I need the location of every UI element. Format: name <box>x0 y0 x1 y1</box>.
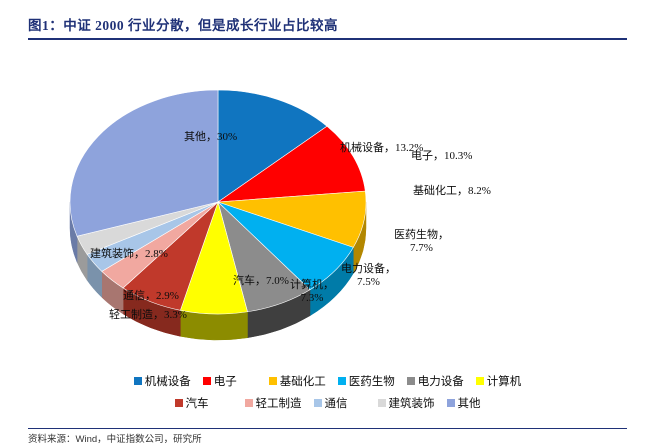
legend-label-机械设备: 机械设备 <box>145 373 191 389</box>
pie-chart: 机械设备，13.2% 电子，10.3% 基础化工，8.2% 医药生物， 7.7%… <box>28 44 627 425</box>
legend-row-1: 机械设备 电子 基础化工 医药生物 电力设备 计算机 <box>28 370 627 392</box>
pie-side-计算机 <box>180 310 247 340</box>
legend-item-机械设备[interactable]: 机械设备 <box>134 373 191 389</box>
legend-swatch-icon-基础化工 <box>269 377 277 385</box>
slice-label-其他: 其他，30% <box>184 131 237 144</box>
legend-swatch-icon-医药生物 <box>338 377 346 385</box>
legend-swatch-icon-计算机 <box>476 377 484 385</box>
legend-item-通信[interactable]: 通信 <box>314 395 348 411</box>
legend-swatch-icon-电力设备 <box>407 377 415 385</box>
legend-label-医药生物: 医药生物 <box>349 373 395 389</box>
legend-swatch-icon-其他 <box>447 399 455 407</box>
legend-swatch-icon-通信 <box>314 399 322 407</box>
legend-item-建筑装饰[interactable]: 建筑装饰 <box>378 395 435 411</box>
legend-item-轻工制造[interactable]: 轻工制造 <box>245 395 302 411</box>
legend-swatch-icon-电子 <box>203 377 211 385</box>
legend-label-轻工制造: 轻工制造 <box>256 395 302 411</box>
legend-swatch-icon-汽车 <box>175 399 183 407</box>
legend-label-建筑装饰: 建筑装饰 <box>389 395 435 411</box>
slice-label-汽车: 汽车，7.0% <box>233 275 289 288</box>
slice-label-医药生物-line2: 7.7% <box>410 242 433 254</box>
source-note: 资料来源：Wind，中证指数公司，研究所 <box>28 431 627 445</box>
legend-label-计算机: 计算机 <box>487 373 522 389</box>
legend-item-电力设备[interactable]: 电力设备 <box>407 373 464 389</box>
pie-chart-svg <box>28 44 627 374</box>
title-divider <box>28 38 627 40</box>
legend-label-通信: 通信 <box>325 395 348 411</box>
slice-label-电力设备-line2: 7.5% <box>357 276 380 288</box>
slice-label-计算机-line2: 7.3% <box>301 292 324 304</box>
chart-legend: 机械设备 电子 基础化工 医药生物 电力设备 计算机 <box>28 370 627 414</box>
footer-divider <box>28 428 627 429</box>
legend-item-电子[interactable]: 电子 <box>203 373 237 389</box>
legend-item-其他[interactable]: 其他 <box>447 395 481 411</box>
legend-label-电子: 电子 <box>214 373 237 389</box>
legend-item-汽车[interactable]: 汽车 <box>175 395 209 411</box>
legend-row-2: 汽车 轻工制造 通信 建筑装饰 其他 <box>28 392 627 414</box>
slice-label-电力设备: 电力设备， 7.5% <box>341 263 396 289</box>
slice-label-医药生物: 医药生物， 7.7% <box>394 229 449 255</box>
figure-title-container: 图1：中证 2000 行业分散，但是成长行业占比较高 <box>28 14 628 34</box>
legend-item-基础化工[interactable]: 基础化工 <box>269 373 326 389</box>
pie-graphic-container: 机械设备，13.2% 电子，10.3% 基础化工，8.2% 医药生物， 7.7%… <box>28 44 627 374</box>
legend-swatch-icon-轻工制造 <box>245 399 253 407</box>
slice-label-计算机: 计算机， 7.3% <box>290 279 334 305</box>
legend-item-计算机[interactable]: 计算机 <box>476 373 522 389</box>
slice-label-计算机-line1: 计算机， <box>290 279 334 291</box>
slice-label-基础化工: 基础化工，8.2% <box>413 185 491 198</box>
legend-label-基础化工: 基础化工 <box>280 373 326 389</box>
slice-label-电力设备-line1: 电力设备， <box>341 263 396 275</box>
legend-swatch-icon-机械设备 <box>134 377 142 385</box>
slice-label-医药生物-line1: 医药生物， <box>394 229 449 241</box>
slice-label-通信: 通信，2.9% <box>123 290 179 303</box>
legend-label-汽车: 汽车 <box>186 395 209 411</box>
legend-swatch-icon-建筑装饰 <box>378 399 386 407</box>
slice-label-电子: 电子，10.3% <box>411 150 472 163</box>
slice-label-轻工制造: 轻工制造，3.3% <box>109 309 187 322</box>
legend-label-其他: 其他 <box>458 395 481 411</box>
page-title: 图1：中证 2000 行业分散，但是成长行业占比较高 <box>28 14 628 34</box>
slice-label-建筑装饰: 建筑装饰，2.8% <box>90 248 168 261</box>
legend-label-电力设备: 电力设备 <box>418 373 464 389</box>
legend-item-医药生物[interactable]: 医药生物 <box>338 373 395 389</box>
